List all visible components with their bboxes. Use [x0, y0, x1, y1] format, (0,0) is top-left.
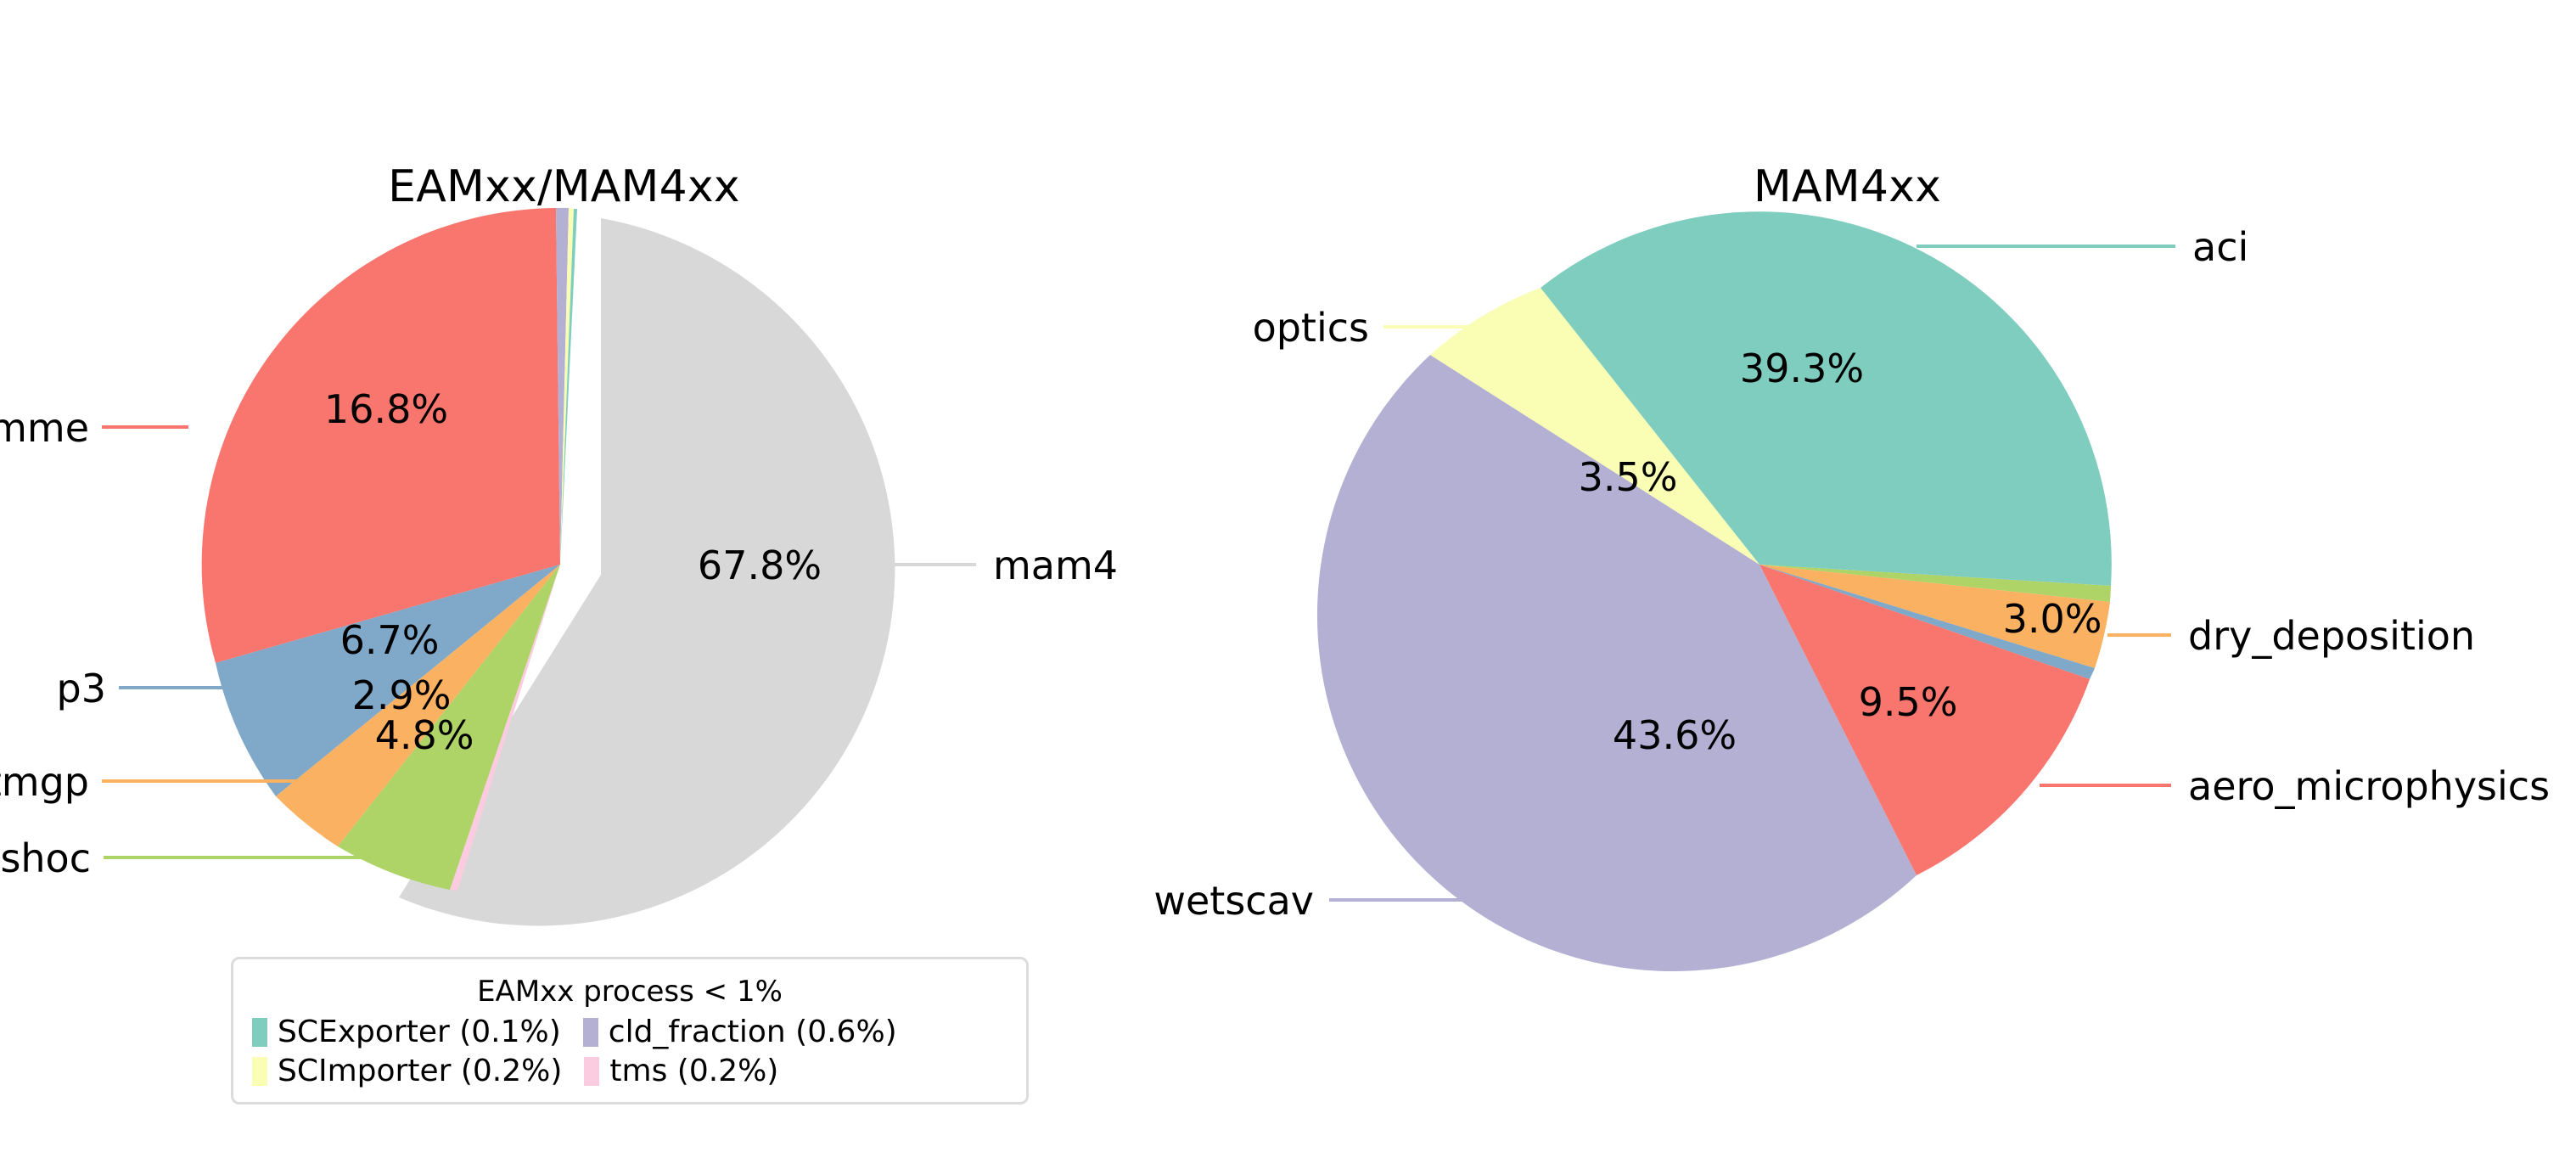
- pie-pct-mam4: 67.8%: [698, 543, 822, 588]
- legend-label-tms: tms (0.2%): [609, 1056, 778, 1087]
- pie-label-p3: p3: [57, 666, 106, 711]
- pie-pct-p3: 6.7%: [340, 617, 440, 663]
- pie-label-aero-microphysics: aero_microphysics: [2188, 763, 2550, 809]
- legend-swatch-scimporter: [252, 1057, 267, 1086]
- pie-pct-optics: 3.5%: [1579, 454, 1678, 500]
- pie-svg-mam4xx: aci dry_deposition aero_microphysics wet…: [1288, 0, 2576, 1175]
- legend-label-scexporter: SCExporter (0.1%): [278, 1017, 561, 1048]
- pie-pct-rrtmgp: 2.9%: [352, 672, 452, 718]
- legend-swatch-cld-fraction: [583, 1018, 598, 1047]
- pie-label-dry-deposition: dry_deposition: [2188, 613, 2475, 659]
- legend-entry-cld-fraction[interactable]: cld_fraction (0.6%): [583, 1017, 897, 1048]
- pie-pct-aci: 39.3%: [1740, 346, 1864, 391]
- pie-pct-wetscav: 43.6%: [1613, 712, 1737, 758]
- pie-pct-homme: 16.8%: [324, 386, 448, 432]
- pie-pct-dry-deposition: 3.0%: [2003, 596, 2102, 642]
- pie-label-rrtmgp: rrtmgp: [0, 759, 89, 805]
- legend-label-cld-fraction: cld_fraction (0.6%): [609, 1017, 897, 1048]
- legend-row: SCExporter (0.1%) cld_fraction (0.6%): [252, 1017, 1007, 1048]
- panel-mam4xx: MAM4xx: [1288, 0, 2576, 1175]
- pie-label-homme: homme: [0, 405, 89, 451]
- legend-title-eamxx: EAMxx process < 1%: [252, 975, 1007, 1009]
- pie-label-wetscav: wetscav: [1153, 878, 1314, 924]
- legend-entry-scimporter[interactable]: SCImporter (0.2%): [252, 1056, 562, 1087]
- pie-pct-shoc: 4.8%: [375, 712, 474, 758]
- legend-label-scimporter: SCImporter (0.2%): [278, 1056, 562, 1087]
- legend-swatch-scexporter: [252, 1018, 267, 1047]
- legend-swatch-tms: [584, 1057, 599, 1086]
- panel-eamxx: EAMxx/MAM4xx: [0, 0, 1288, 1175]
- legend-eamxx: EAMxx process < 1% SCExporter (0.1%) cld…: [231, 957, 1029, 1105]
- legend-entry-tms[interactable]: tms (0.2%): [584, 1056, 778, 1087]
- pie-label-shoc: shoc: [0, 835, 91, 881]
- pie-label-mam4: mam4: [993, 543, 1118, 588]
- pie-label-aci: aci: [2192, 224, 2248, 270]
- legend-row: SCImporter (0.2%) tms (0.2%): [252, 1056, 1007, 1087]
- pie-pct-aero-microphysics: 9.5%: [1859, 679, 1958, 725]
- pie-label-optics: optics: [1253, 305, 1369, 351]
- pie-chart-figure: EAMxx/MAM4xx: [0, 0, 2576, 1175]
- legend-entry-scexporter[interactable]: SCExporter (0.1%): [252, 1017, 561, 1048]
